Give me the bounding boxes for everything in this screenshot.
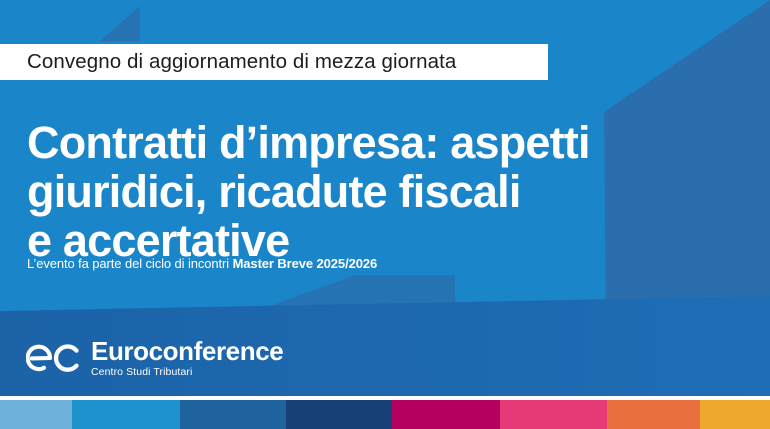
series-note: L’evento fa parte del ciclo di incontri … xyxy=(27,257,377,271)
color-swatch-steel-blue xyxy=(180,400,286,429)
page-title: Contratti d’impresa: aspetti giuridici, … xyxy=(27,118,727,265)
brand-wordmark: Euroconference Centro Studi Tributari xyxy=(91,338,283,379)
kicker-chip: Convegno di aggiornamento di mezza giorn… xyxy=(0,44,548,80)
brand-logo: Euroconference Centro Studi Tributari xyxy=(26,335,283,381)
color-swatch-amber xyxy=(700,400,770,429)
brand-name: Euroconference xyxy=(91,338,283,365)
event-banner: Convegno di aggiornamento di mezza giorn… xyxy=(0,0,770,429)
color-strip xyxy=(0,400,770,429)
series-note-lead: L’evento fa parte del ciclo di incontri xyxy=(27,256,233,271)
color-swatch-azure xyxy=(72,400,180,429)
color-swatch-magenta xyxy=(392,400,500,429)
color-swatch-navy xyxy=(286,400,392,429)
color-swatch-pink xyxy=(500,400,607,429)
kicker-text: Convegno di aggiornamento di mezza giorn… xyxy=(27,52,456,73)
ec-monogram-icon xyxy=(26,339,82,377)
brand-tagline: Centro Studi Tributari xyxy=(91,366,283,379)
headline-line-2: giuridici, ricadute fiscali xyxy=(27,167,727,216)
series-note-emphasis: Master Breve 2025/2026 xyxy=(233,256,378,271)
color-swatch-orange xyxy=(607,400,700,429)
headline-line-1: Contratti d’impresa: aspetti xyxy=(27,118,727,167)
color-swatch-light-blue xyxy=(0,400,72,429)
